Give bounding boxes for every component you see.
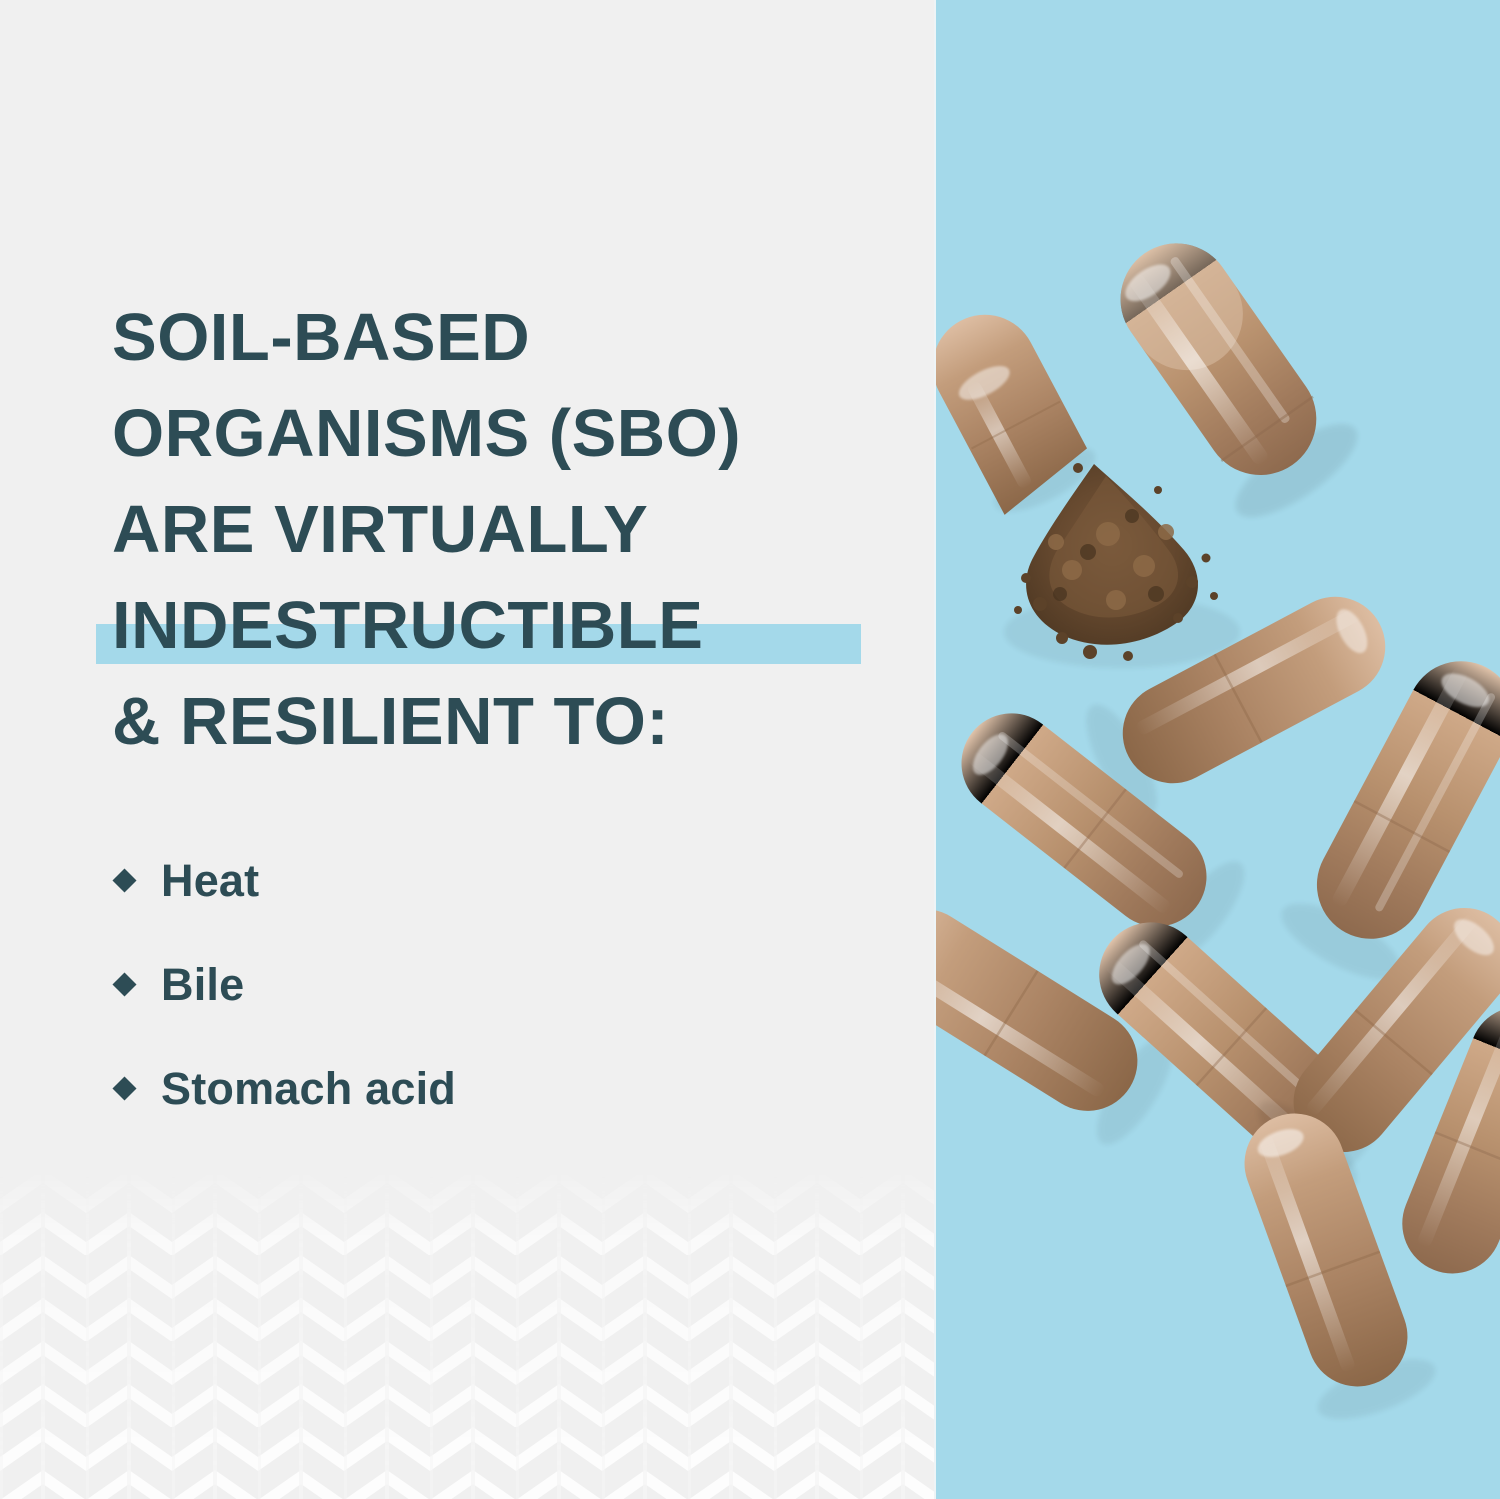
diamond-bullet-icon [112,868,136,892]
list-item-label: Stomach acid [161,1066,456,1111]
promo-graphic: SOIL-BASED ORGANISMS (SBO) ARE VIRTUALLY… [0,0,1500,1499]
headline-line-2-text: ORGANISMS (SBO) [112,396,741,471]
list-item: Stomach acid [112,1036,934,1140]
headline-line-4-text: INDESTRUCTIBLE [112,588,703,663]
headline-line-1: SOIL-BASED [112,290,912,386]
headline-line-5-text: & RESILIENT TO: [112,684,669,759]
supplement-capsules-photo [934,0,1500,1499]
headline-line-4-highlighted: INDESTRUCTIBLE [112,578,912,674]
list-item-label: Bile [161,962,244,1007]
resilience-list: Heat Bile Stomach acid [112,828,934,1140]
list-item: Bile [112,932,934,1036]
headline-line-2: ORGANISMS (SBO) [112,386,912,482]
product-photo-panel [934,0,1500,1499]
list-item: Heat [112,828,934,932]
diamond-bullet-icon [112,972,136,996]
headline-line-5: & RESILIENT TO: [112,674,912,770]
headline-line-1-text: SOIL-BASED [112,300,530,375]
list-item-label: Heat [161,858,259,903]
page-title: SOIL-BASED ORGANISMS (SBO) ARE VIRTUALLY… [112,290,912,770]
text-panel: SOIL-BASED ORGANISMS (SBO) ARE VIRTUALLY… [0,0,934,1499]
headline-line-3-text: ARE VIRTUALLY [112,492,648,567]
chevron-herringbone-pattern [0,1169,934,1499]
headline-line-3: ARE VIRTUALLY [112,482,912,578]
panel-divider [934,0,936,1499]
text-content: SOIL-BASED ORGANISMS (SBO) ARE VIRTUALLY… [0,0,934,1140]
diamond-bullet-icon [112,1076,136,1100]
